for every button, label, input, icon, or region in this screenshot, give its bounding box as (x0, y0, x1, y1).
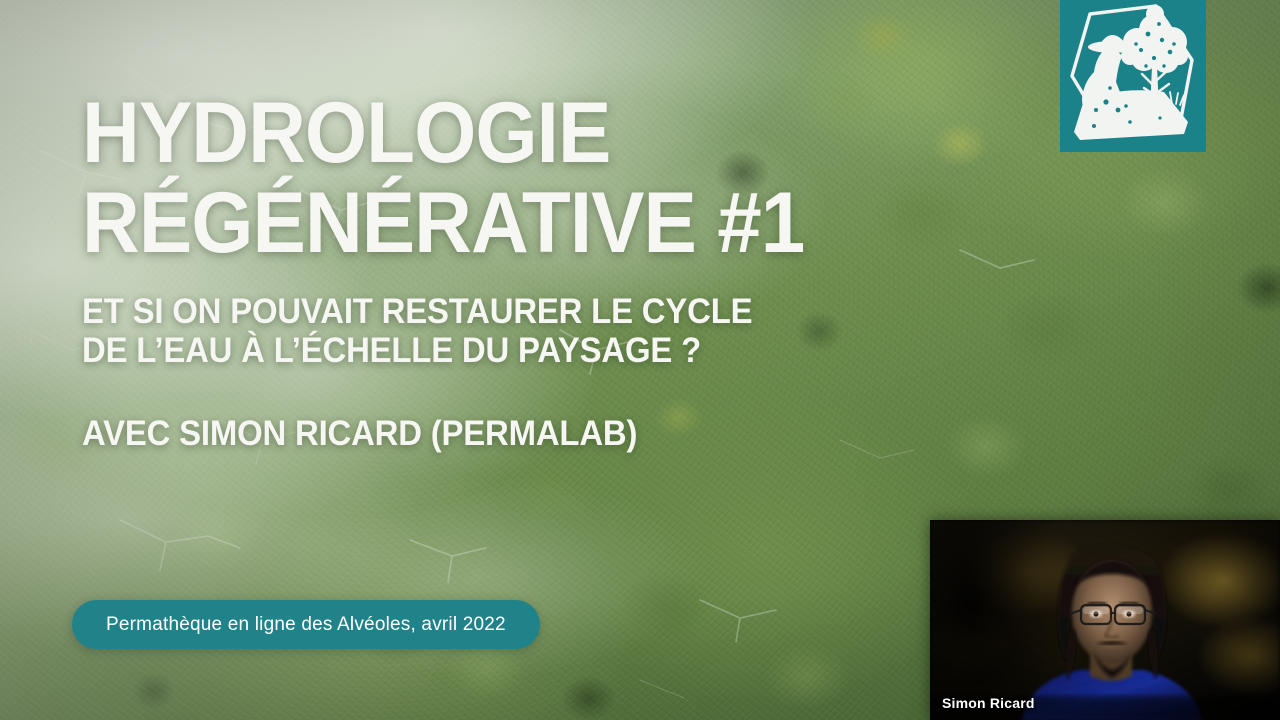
title-line-2: RÉGÉNÉRATIVE #1 (82, 178, 900, 268)
permalab-logo (1060, 0, 1206, 152)
video-thumbnail: HYDROLOGIE RÉGÉNÉRATIVE #1 ET SI ON POUV… (0, 0, 1280, 720)
speaker-line: AVEC SIMON RICARD (PERMALAB) (82, 414, 909, 453)
title-line-1: HYDROLOGIE (82, 88, 900, 178)
webcam-overlay: Simon Ricard (930, 520, 1280, 720)
webcam-vignette (930, 520, 1280, 720)
gardener-icon (1060, 0, 1206, 152)
title-block: HYDROLOGIE RÉGÉNÉRATIVE #1 ET SI ON POUV… (82, 88, 962, 453)
subtitle-block: ET SI ON POUVAIT RESTAURER LE CYCLE DE L… (82, 292, 962, 370)
participant-name-label: Simon Ricard (942, 695, 1035, 711)
event-badge: Permathèque en ligne des Alvéoles, avril… (72, 600, 540, 649)
subtitle-line-2: DE L’EAU À L’ÉCHELLE DU PAYSAGE ? (82, 331, 909, 370)
subtitle-line-1: ET SI ON POUVAIT RESTAURER LE CYCLE (82, 292, 909, 331)
event-badge-label: Permathèque en ligne des Alvéoles, avril… (106, 614, 506, 636)
